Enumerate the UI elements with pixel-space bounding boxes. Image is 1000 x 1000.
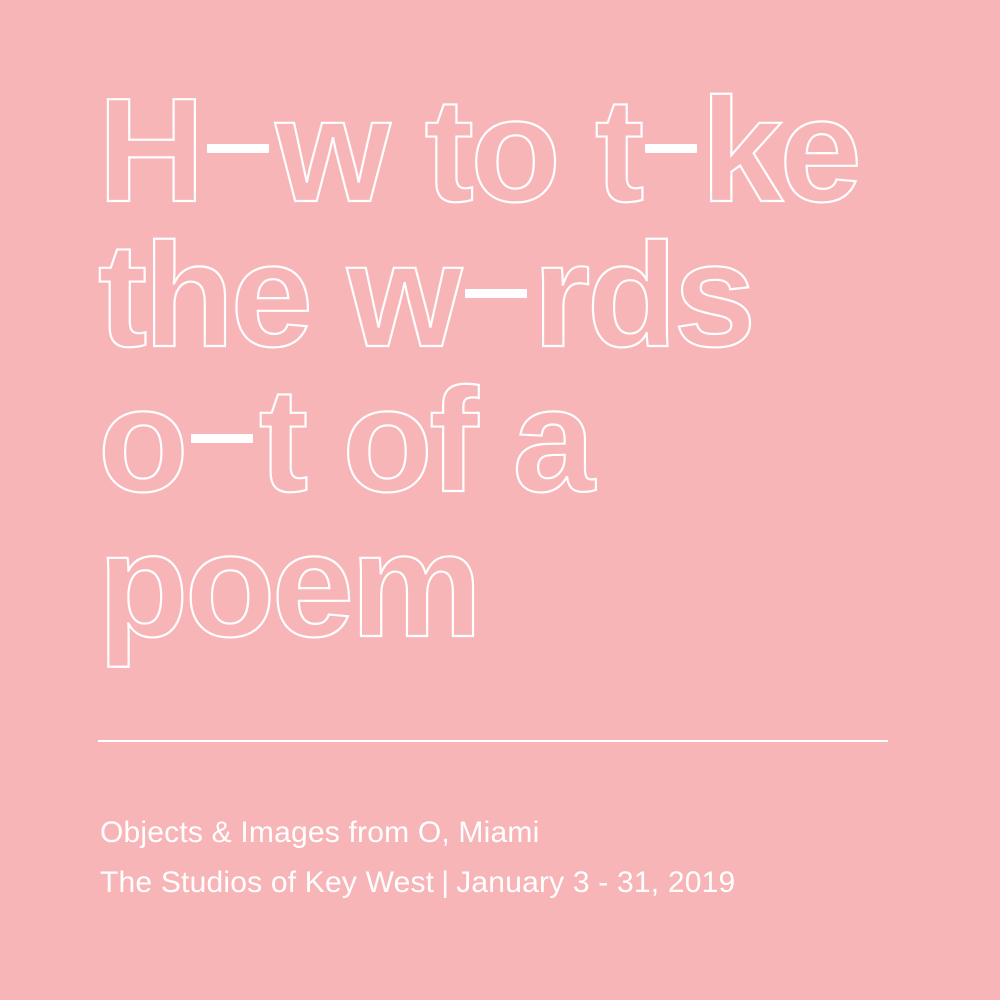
headline-line-1-segment-c: ke: [701, 68, 859, 233]
horizontal-divider: [98, 740, 888, 742]
headline-line-2-segment-a: the w: [98, 213, 459, 378]
caption-separator-icon: |: [434, 858, 456, 908]
headline-line-4-segment-a: poem: [98, 503, 479, 668]
headline-line-2-segment-b: rds: [533, 213, 753, 378]
replaced-vowel-dash-icon: [465, 289, 527, 298]
headline-line-3-segment-b: t of a: [259, 358, 592, 523]
caption-venue: The Studios of Key West: [100, 866, 434, 899]
poster-caption: Objects & Images from O, Miami The Studi…: [100, 808, 940, 908]
caption-line-venue-dates: The Studios of Key West|January 3 - 31, …: [100, 858, 940, 908]
caption-line-subtitle: Objects & Images from O, Miami: [100, 808, 940, 858]
replaced-vowel-dash-icon: [645, 144, 697, 153]
headline-line-1-segment-a: H: [98, 68, 201, 233]
poster-headline: Hw to tke the wrds ot of a poem: [98, 78, 958, 658]
poster-canvas: Hw to tke the wrds ot of a poem Objects …: [0, 0, 1000, 1000]
caption-dates: January 3 - 31, 2019: [456, 866, 735, 899]
headline-line-3: ot of a: [98, 368, 958, 513]
headline-line-1: Hw to tke: [98, 78, 958, 223]
replaced-vowel-dash-icon: [191, 434, 253, 443]
headline-line-1-segment-b: w to t: [275, 68, 640, 233]
headline-line-3-segment-a: o: [98, 358, 185, 523]
headline-line-2: the wrds: [98, 223, 958, 368]
headline-line-4: poem: [98, 513, 958, 658]
replaced-vowel-dash-icon: [207, 144, 269, 153]
